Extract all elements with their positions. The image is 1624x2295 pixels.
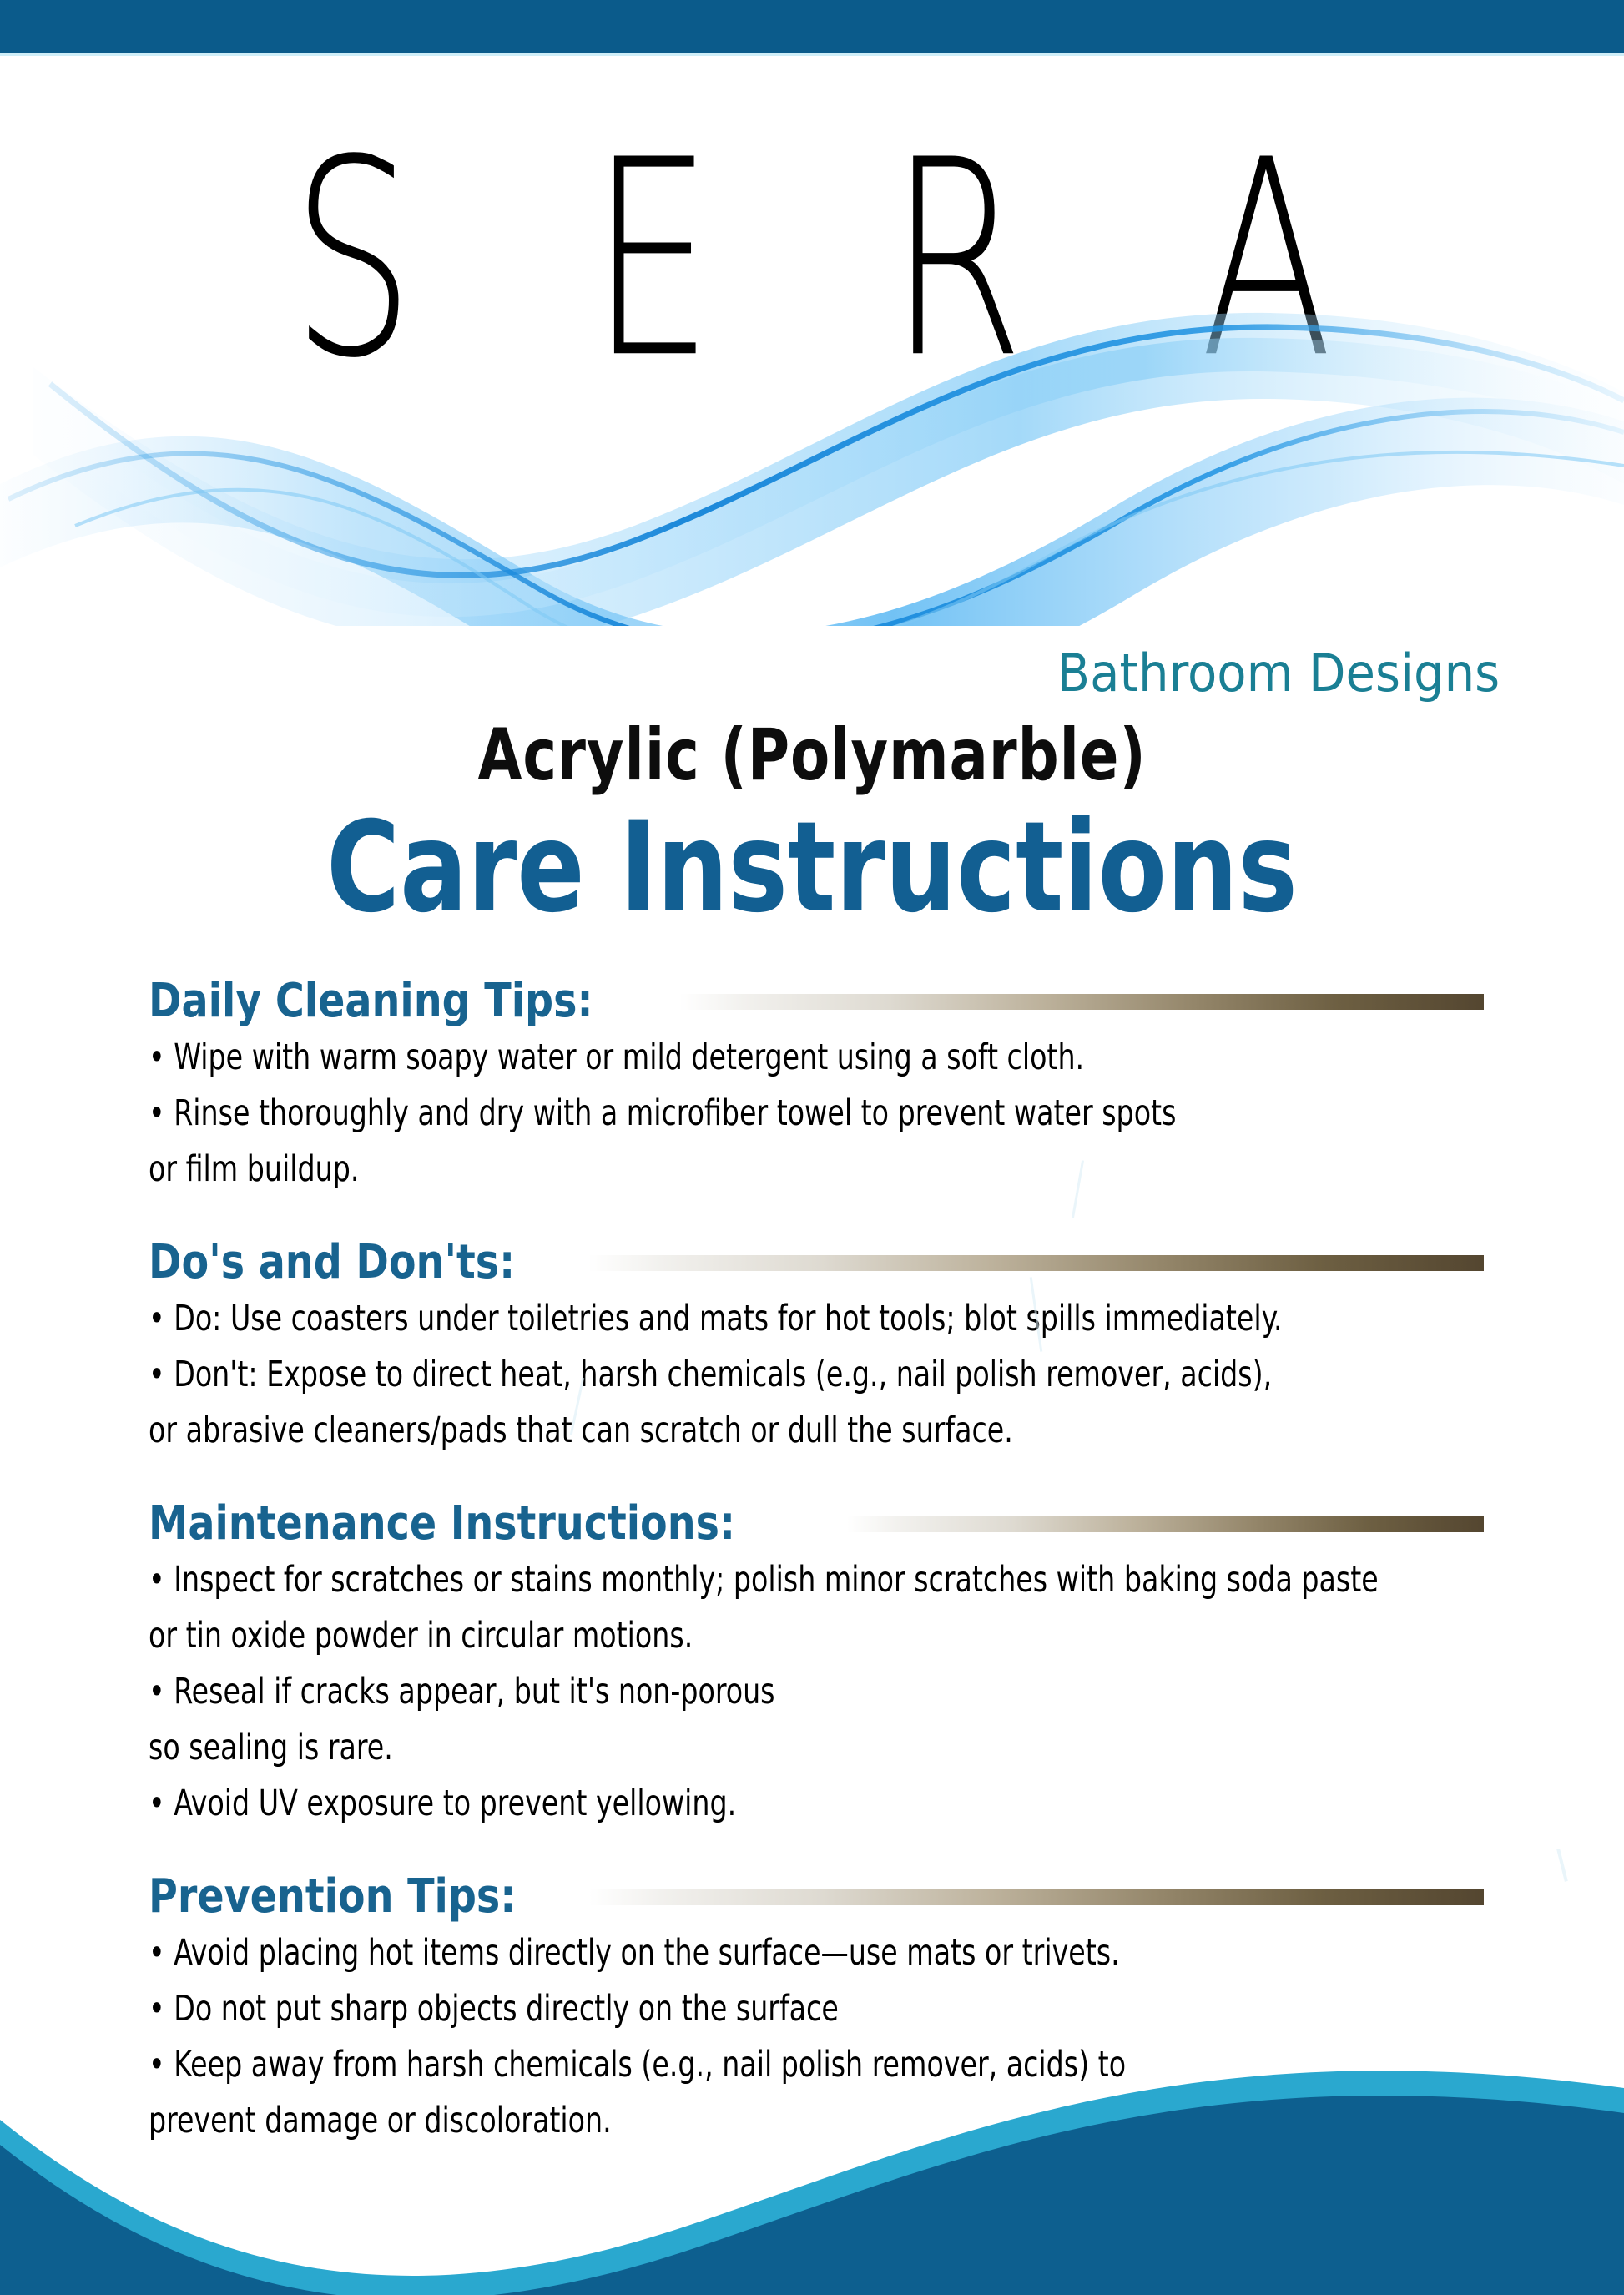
section-header-row: Daily Cleaning Tips: [149,975,1484,1028]
section-divider-bar [847,1516,1484,1532]
bullet-item: • Do: Use coasters under toiletries and … [149,1301,1297,1337]
section-spacer [149,1842,1484,1870]
bullet-item: • Wipe with warm soapy water or mild det… [149,1040,1297,1076]
section-header-row: Do's and Don'ts: [149,1236,1484,1289]
bullet-continuation: or film buildup. [149,1152,1297,1188]
section-bullet-list: • Inspect for scratches or stains monthl… [149,1562,1484,1822]
bullet-item: • Avoid placing hot items directly on th… [149,1935,1297,1971]
bullet-continuation: or tin oxide powder in circular motions. [149,1618,1297,1654]
page-title: Care Instructions [163,805,1462,931]
bullet-continuation: so sealing is rare. [149,1730,1297,1766]
section-spacer [149,1208,1484,1236]
section-bullet-list: • Wipe with warm soapy water or mild det… [149,1040,1484,1188]
section-heading: Do's and Don'ts: [149,1239,515,1286]
brand-logo-block: S E R A [0,75,1624,676]
bullet-item: • Reseal if cracks appear, but it's non-… [149,1674,1297,1710]
bullet-item: • Inspect for scratches or stains monthl… [149,1562,1297,1598]
care-instructions-poster: S E R A [0,0,1624,2295]
brand-tagline: Bathroom Designs [113,643,1624,704]
material-subtitle: Acrylic (Polymarble) [163,714,1462,797]
top-blue-bar [0,0,1624,53]
blue-wave-ribbon-graphic [0,275,1624,626]
section-heading: Prevention Tips: [149,1874,516,1920]
section-spacer [149,1469,1484,1497]
scan-artifact [1556,1849,1568,1882]
section-heading: Maintenance Instructions: [149,1501,735,1547]
section-1: Daily Cleaning Tips:• Wipe with warm soa… [149,975,1484,1236]
top-bar-underline [0,53,1624,56]
section-divider-bar [588,1255,1484,1271]
bullet-item: • Rinse thoroughly and dry with a microf… [149,1096,1297,1132]
section-divider-bar [679,994,1484,1010]
bullet-item: • Don't: Expose to direct heat, harsh ch… [149,1357,1297,1393]
section-3: Maintenance Instructions:• Inspect for s… [149,1497,1484,1870]
bullet-item: • Avoid UV exposure to prevent yellowing… [149,1786,1297,1822]
section-header-row: Prevention Tips: [149,1870,1484,1924]
section-header-row: Maintenance Instructions: [149,1497,1484,1551]
bullet-item: • Do not put sharp objects directly on t… [149,1991,1297,2027]
bullet-continuation: or abrasive cleaners/pads that can scrat… [149,1413,1297,1449]
section-heading: Daily Cleaning Tips: [149,978,593,1025]
section-2: Do's and Don'ts:• Do: Use coasters under… [149,1236,1484,1497]
instructions-content: Daily Cleaning Tips:• Wipe with warm soa… [149,975,1484,2187]
section-bullet-list: • Do: Use coasters under toiletries and … [149,1301,1484,1449]
section-divider-bar [589,1889,1484,1905]
footer-wave-graphic [0,2045,1624,2295]
